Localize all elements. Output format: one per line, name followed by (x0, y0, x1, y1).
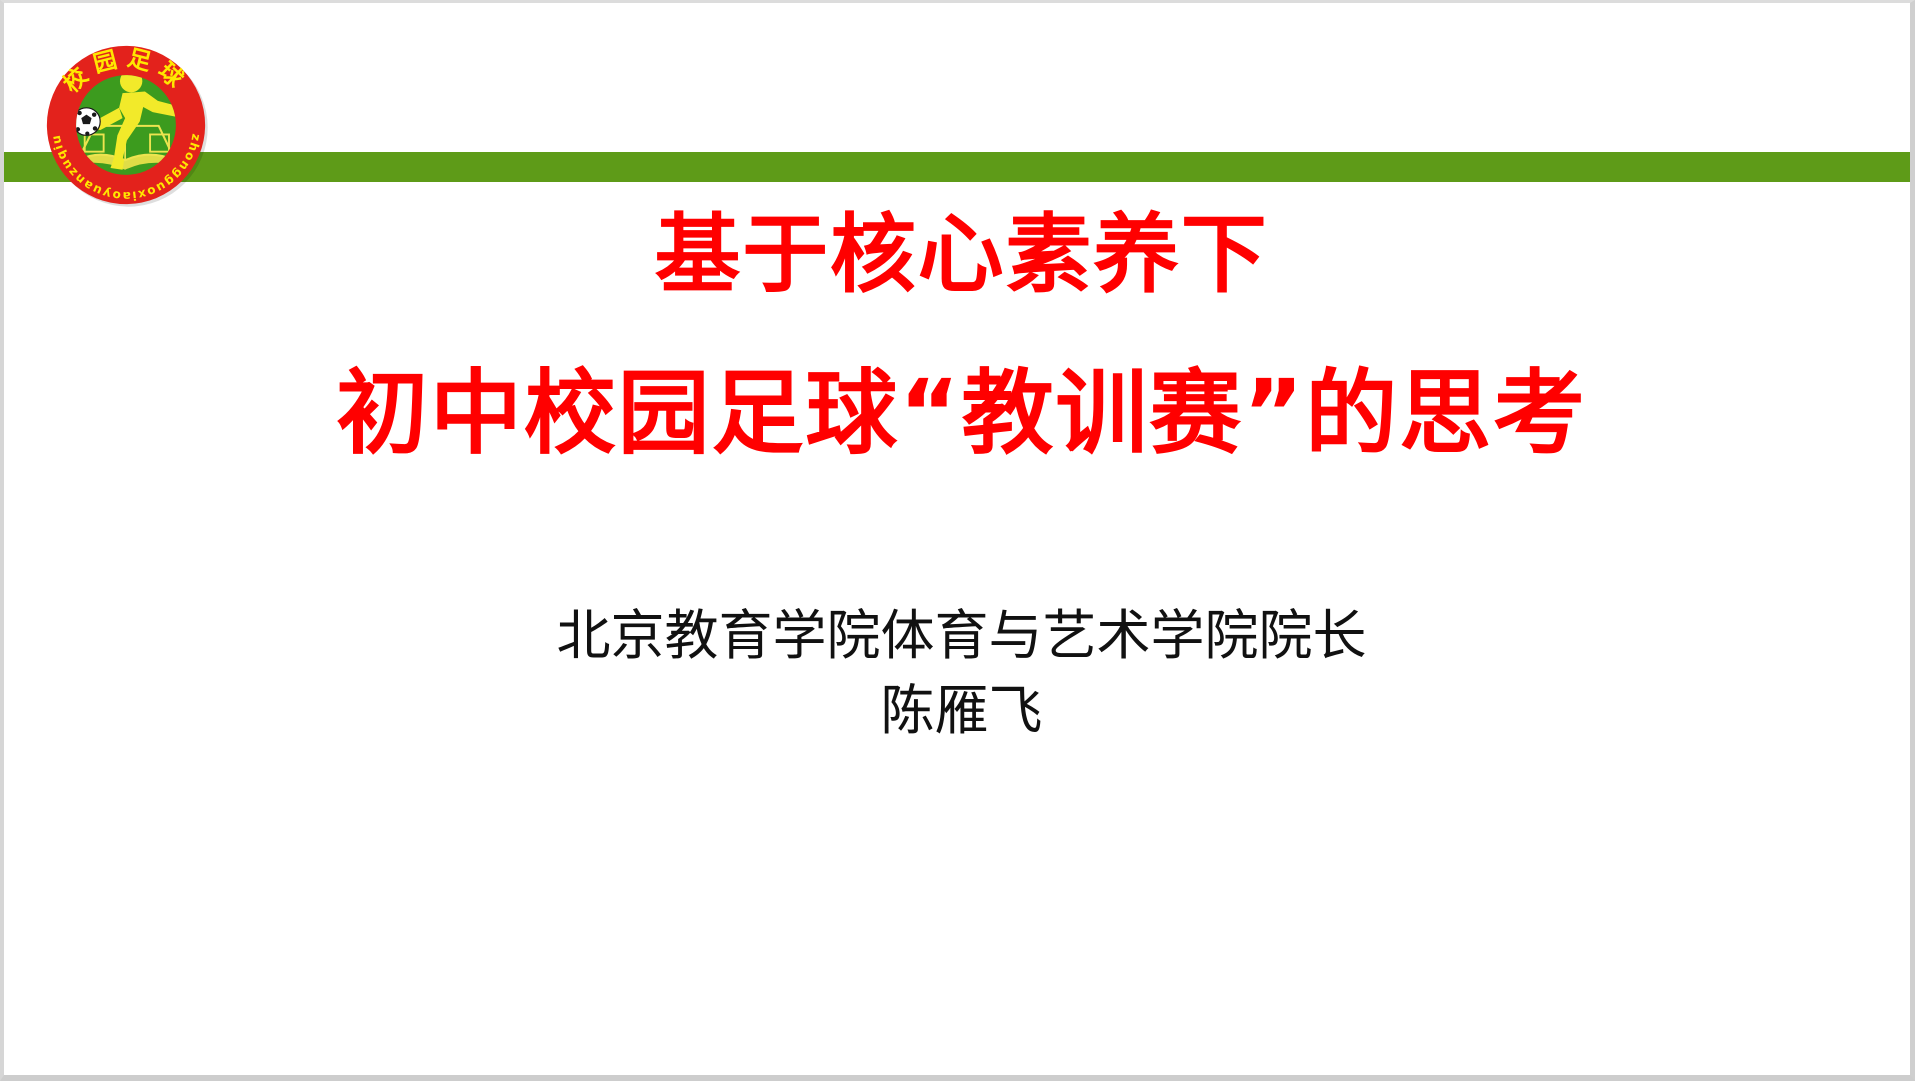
title-line-2: 初中校园足球“教训赛”的思考 (4, 353, 1915, 474)
presenter-affiliation: 北京教育学院体育与艺术学院院长 (4, 599, 1915, 674)
presenter-name: 陈雁飞 (4, 674, 1915, 749)
title-line-1: 基于核心素养下 (4, 199, 1915, 313)
presentation-slide: 校园足球 zhongguoxiaoyuanzuqiu 基于核心素养下 初中校园足… (0, 0, 1915, 1081)
slide-subtitle: 北京教育学院体育与艺术学院院长 陈雁飞 (4, 599, 1915, 748)
accent-band (4, 152, 1915, 182)
china-campus-football-logo-icon: 校园足球 zhongguoxiaoyuanzuqiu (40, 39, 212, 211)
slide-title: 基于核心素养下 初中校园足球“教训赛”的思考 (4, 199, 1915, 474)
